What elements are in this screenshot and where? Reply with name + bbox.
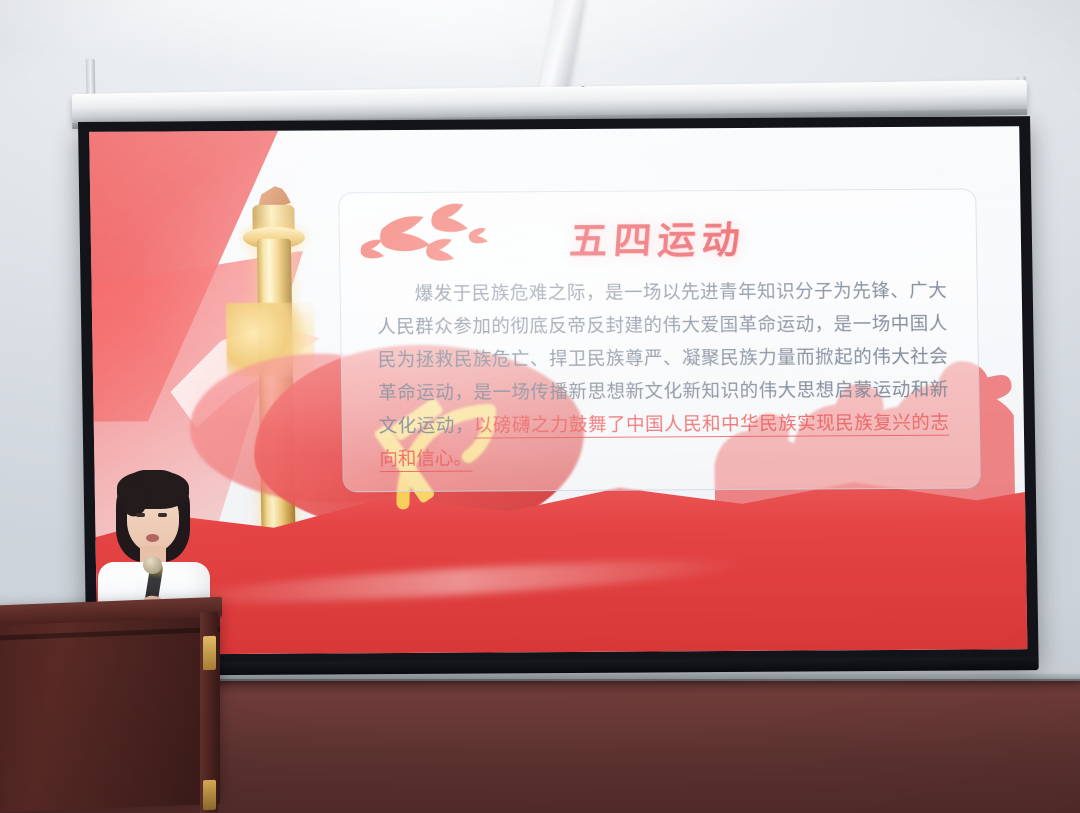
podium-gold-trim (203, 780, 216, 810)
podium-gold-trim (203, 636, 216, 670)
mouth (146, 534, 159, 542)
eye-left (136, 513, 145, 517)
presentation-photo: 五四运动 爆发于民族危难之际，是一场以先进青年知识分子为先锋、广大人民群众参加的… (0, 0, 1080, 813)
eye-right (158, 513, 167, 517)
wall-bracket-left (86, 59, 96, 95)
slide-body-text: 爆发于民族危难之际，是一场以先进青年知识分子为先锋、广大人民群众参加的彻底反帝反… (377, 276, 950, 477)
slide-content-card: 五四运动 爆发于民族危难之际，是一场以先进青年知识分子为先锋、广大人民群众参加的… (338, 189, 981, 493)
slide-title: 五四运动 (338, 208, 978, 267)
